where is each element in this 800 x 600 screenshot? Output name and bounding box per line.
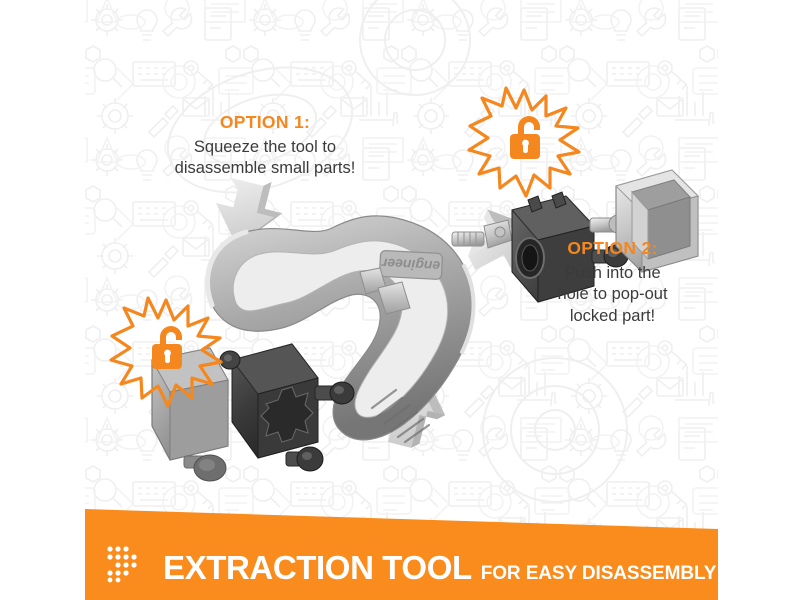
option2-title: OPTION 2: — [505, 238, 720, 260]
bottom-banner: EXTRACTION TOOL FOR EASY DISASSEMBLY — [85, 500, 718, 600]
promo-graphic: engineer — [0, 0, 800, 600]
open-padlock-icon — [510, 116, 540, 159]
banner-text: EXTRACTION TOOL FOR EASY DISASSEMBLY — [163, 551, 716, 584]
option1-line2: disassemble small parts! — [140, 158, 390, 179]
banner-title: EXTRACTION TOOL — [163, 551, 472, 584]
option1-callout: OPTION 1: Squeeze the tool to disassembl… — [140, 112, 390, 180]
open-padlock-icon — [152, 326, 182, 369]
unlock-badge-left — [108, 296, 224, 412]
option2-line3: locked part! — [505, 306, 720, 327]
option2-callout: OPTION 2: Push into the hole to pop-out … — [505, 238, 720, 327]
option1-title: OPTION 1: — [140, 112, 390, 134]
option1-line1: Squeeze the tool to — [140, 137, 390, 158]
unlock-badge-right — [466, 86, 582, 202]
banner-subtitle: FOR EASY DISASSEMBLY — [481, 564, 717, 583]
option2-line1: Push into the — [505, 263, 720, 284]
option2-line2: hole to pop-out — [505, 284, 720, 305]
brand-emboss: engineer — [380, 255, 441, 274]
dot-chevron-icon — [105, 543, 149, 583]
